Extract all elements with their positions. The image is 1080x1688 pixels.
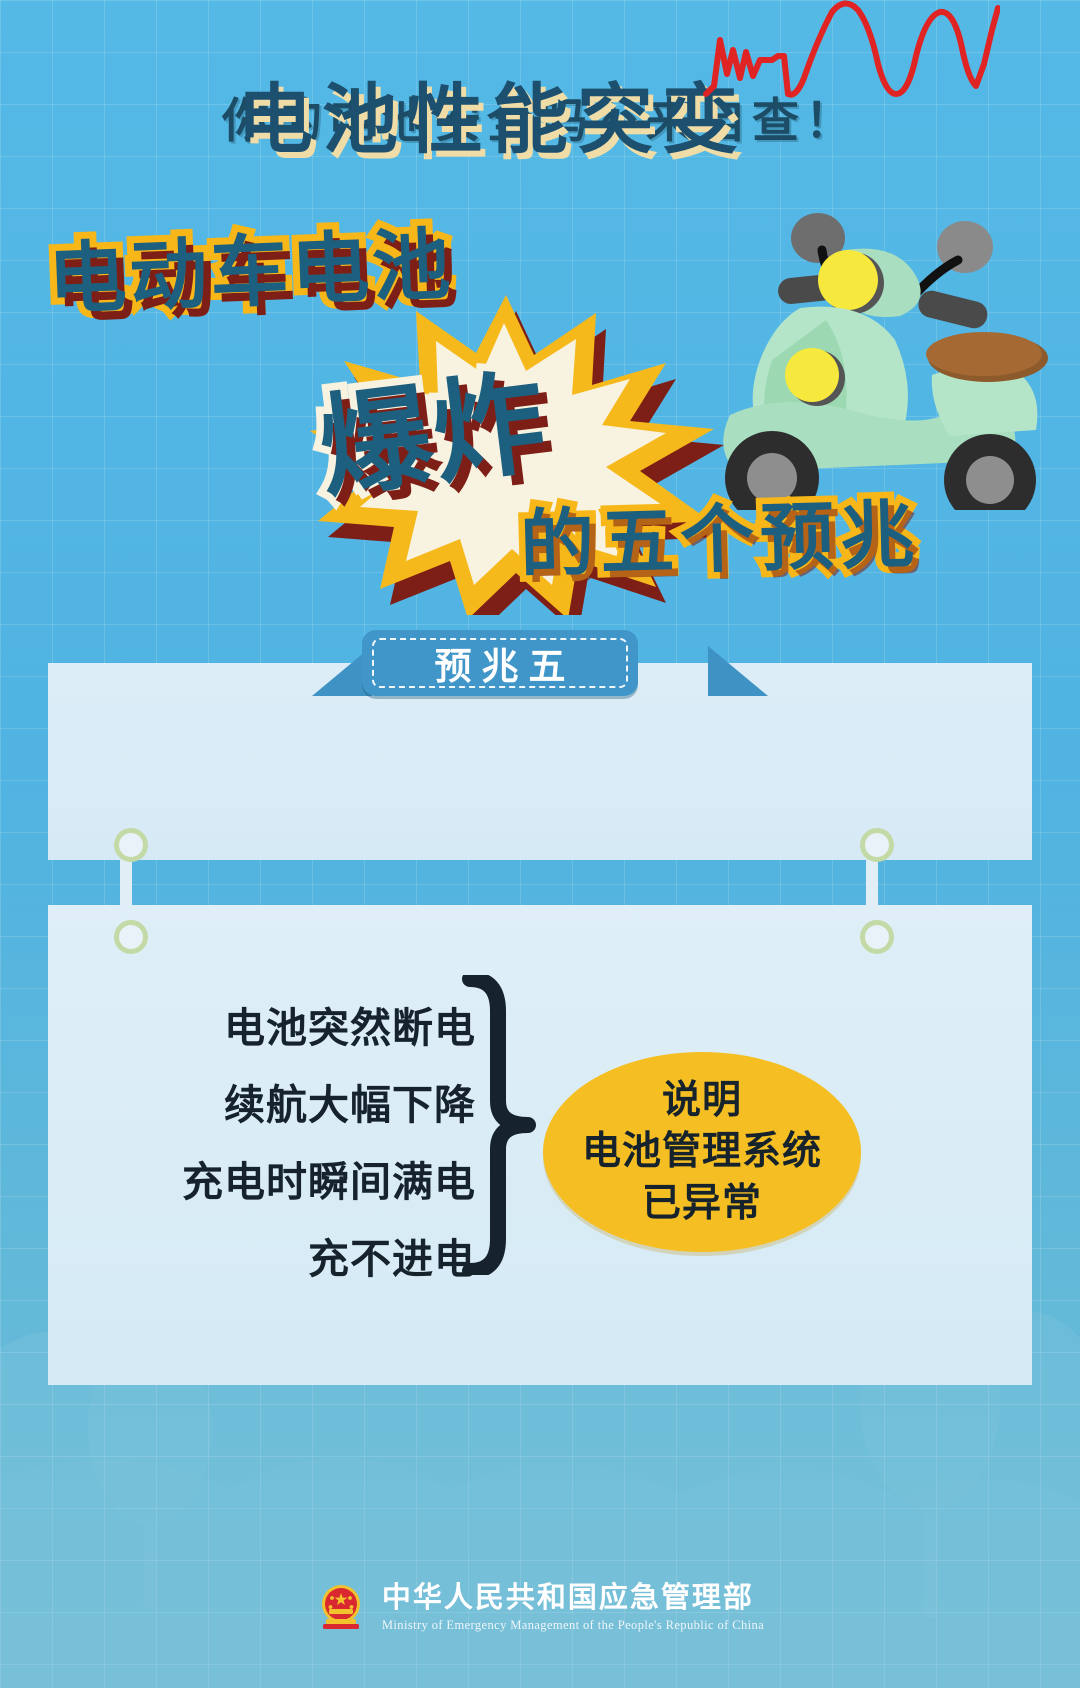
badge-label: 预兆五 xyxy=(362,630,638,696)
list-item: 电池突然断电 xyxy=(110,985,500,1062)
footer-text: 中华人民共和国应急管理部 Ministry of Emergency Manag… xyxy=(382,1583,764,1633)
red-waveform-line-icon xyxy=(700,0,1000,100)
hero-title-line1: 电动车电池 xyxy=(46,202,455,329)
poster-root: 你的电池安全吗？来自查！ xyxy=(0,0,1080,1688)
conclusion-line-3: 已异常 xyxy=(642,1178,762,1229)
footer: 中华人民共和国应急管理部 Ministry of Emergency Manag… xyxy=(0,1582,1080,1634)
conclusion-callout: 说明 电池管理系统 已异常 xyxy=(543,1052,861,1252)
footer-org-en: Ministry of Emergency Management of the … xyxy=(382,1618,764,1633)
curly-brace-icon xyxy=(452,975,542,1275)
symptom-list: 电池突然断电 续航大幅下降 充电时瞬间满电 充不进电 xyxy=(110,985,500,1293)
conclusion-line-2: 电池管理系统 xyxy=(582,1126,822,1177)
list-item: 充电时瞬间满电 xyxy=(110,1139,500,1216)
conclusion-line-1: 说明 xyxy=(662,1075,742,1126)
national-emblem-icon xyxy=(316,1582,366,1634)
eyelet-bottom-right xyxy=(860,920,894,954)
hero-section: 电动车电池 爆炸 的五个预兆 xyxy=(0,170,1080,600)
footer-org-cn: 中华人民共和国应急管理部 xyxy=(382,1583,764,1615)
eyelet-top-left xyxy=(114,828,148,862)
list-item: 充不进电 xyxy=(110,1216,500,1293)
eyelet-bottom-left xyxy=(114,920,148,954)
list-item: 续航大幅下降 xyxy=(110,1062,500,1139)
hero-title-line2: 的五个预兆 xyxy=(519,475,922,592)
step-badge: 预兆五 xyxy=(362,630,638,696)
eyelet-top-right xyxy=(860,828,894,862)
